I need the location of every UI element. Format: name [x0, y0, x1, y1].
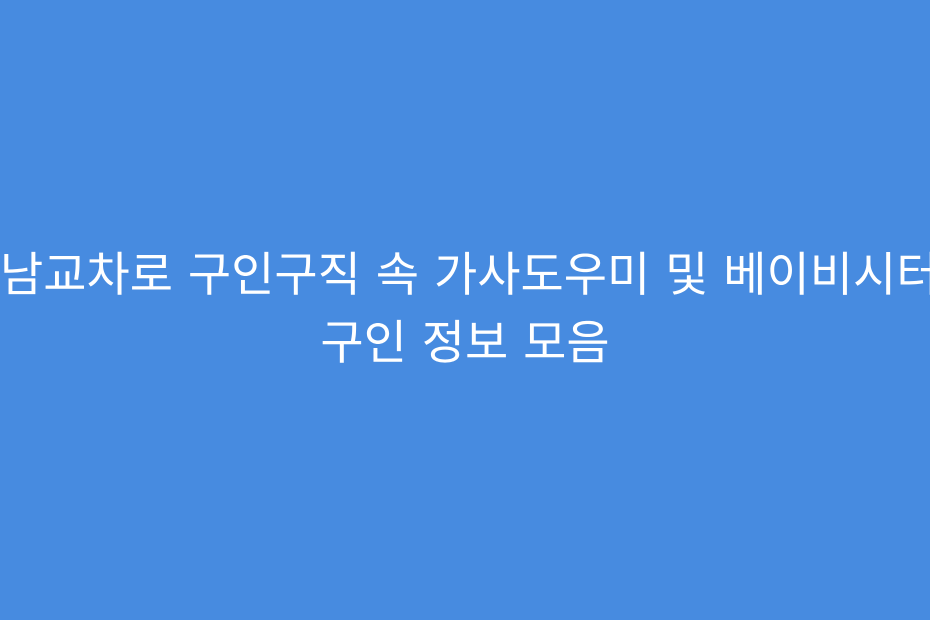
banner-canvas: 남교차로 구인구직 속 가사도우미 및 베이비시터 구인 정보 모음 — [0, 0, 930, 620]
banner-title-line-2: 구인 정보 모음 — [0, 310, 930, 378]
banner-title-block: 남교차로 구인구직 속 가사도우미 및 베이비시터 구인 정보 모음 — [0, 242, 930, 378]
banner-title-line-1: 남교차로 구인구직 속 가사도우미 및 베이비시터 — [0, 242, 930, 310]
